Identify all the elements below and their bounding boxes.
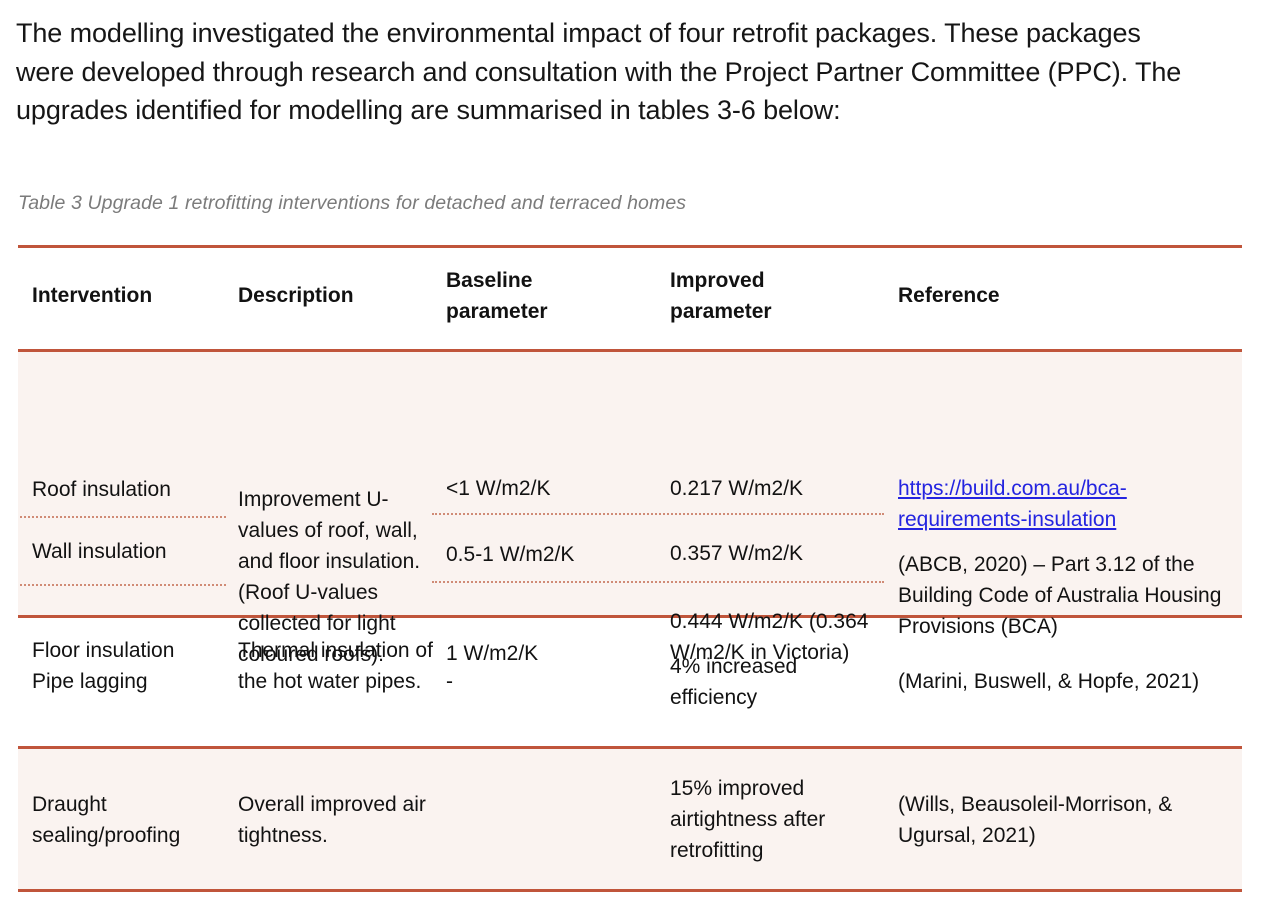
column-header-description: Description	[238, 280, 446, 311]
dotted-separator-parameters-2	[432, 581, 884, 583]
cell-improved-pipe-lagging: 4% increased efficiency	[670, 651, 888, 713]
column-header-reference: Reference	[898, 280, 1238, 311]
cell-reference-pipe-lagging: (Marini, Buswell, & Hopfe, 2021)	[898, 666, 1246, 697]
cell-description-draught-sealing: Overall improved air tightness.	[238, 789, 446, 851]
cell-intervention-roof-insulation: Roof insulation	[32, 474, 228, 505]
dotted-separator-parameters-1	[432, 513, 884, 515]
document-page: The modelling investigated the environme…	[0, 0, 1266, 914]
dotted-separator-intervention-1	[20, 516, 226, 518]
cell-intervention-wall-insulation: Wall insulation	[32, 536, 228, 567]
draught-sealing-group-block: Draught sealing/proofing Overall improve…	[18, 749, 1242, 889]
pipe-lagging-group-block: Pipe lagging Thermal insulation of the h…	[18, 618, 1242, 746]
table-caption: Table 3 Upgrade 1 retrofitting intervent…	[18, 192, 686, 215]
cell-description-pipe-lagging: Thermal insulation of the hot water pipe…	[238, 635, 446, 697]
cell-baseline-roof-insulation: <1 W/m2/K	[446, 473, 652, 504]
column-header-improved-parameter: Improved parameter	[670, 265, 888, 327]
cell-intervention-draught-sealing: Draught sealing/proofing	[32, 789, 228, 851]
cell-baseline-wall-insulation: 0.5-1 W/m2/K	[446, 539, 652, 570]
column-header-baseline-parameter: Baseline parameter	[446, 265, 652, 327]
cell-improved-draught-sealing: 15% improved airtightness after retrofit…	[670, 773, 888, 866]
table-header-row: Intervention Description Baseline parame…	[18, 248, 1242, 349]
table-3: Intervention Description Baseline parame…	[18, 245, 1242, 892]
table-bottom-rule	[18, 889, 1242, 892]
reference-link-build-com-au[interactable]: https://build.com.au/bca-requirements-in…	[898, 477, 1127, 531]
cell-improved-wall-insulation: 0.357 W/m2/K	[670, 538, 888, 569]
dotted-separator-intervention-2	[20, 584, 226, 586]
reference-spacer	[898, 535, 1250, 549]
cell-baseline-pipe-lagging: -	[446, 666, 652, 697]
cell-improved-roof-insulation: 0.217 W/m2/K	[670, 473, 888, 504]
cell-intervention-pipe-lagging: Pipe lagging	[32, 666, 228, 697]
cell-reference-draught-sealing: (Wills, Beausoleil-Morrison, & Ugursal, …	[898, 789, 1246, 851]
cell-reference-insulation: https://build.com.au/bca-requirements-in…	[898, 473, 1250, 642]
intro-paragraph: The modelling investigated the environme…	[16, 14, 1206, 130]
insulation-group-block: Roof insulation <1 W/m2/K 0.217 W/m2/K W…	[18, 352, 1242, 615]
column-header-intervention: Intervention	[32, 280, 228, 311]
